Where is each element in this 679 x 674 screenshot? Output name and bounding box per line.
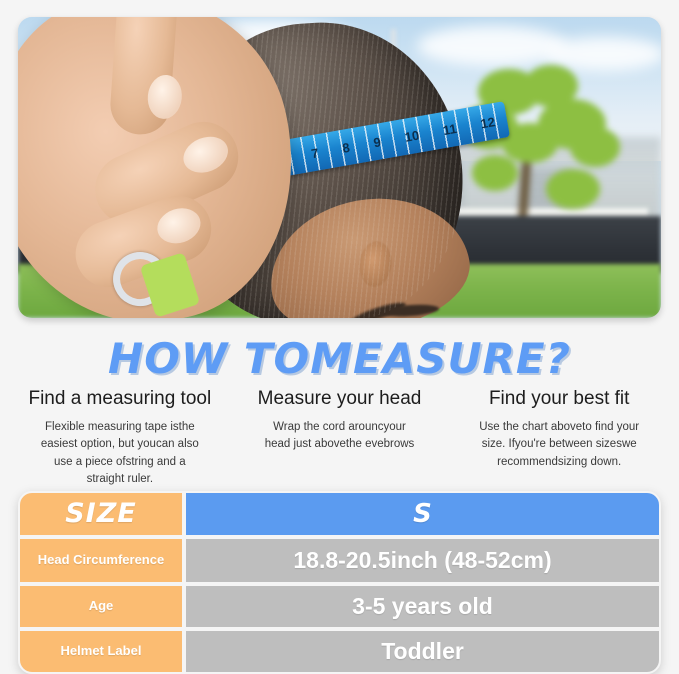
step-1-heading: Find a measuring tool [16, 388, 224, 410]
helmet-label-label: Helmet Label [18, 629, 184, 674]
step-3-heading: Find your best fit [455, 388, 663, 410]
helmet-label-value: Toddler [184, 629, 661, 674]
table-row: Age 3-5 years old [18, 584, 661, 629]
head-circumference-value: 18.8-20.5inch (48-52cm) [184, 537, 661, 584]
instruction-step-2: Measure your head Wrap the cord arouncyo… [230, 388, 450, 488]
tape-number: 12 [479, 114, 496, 131]
cloud [417, 26, 567, 66]
table-row: Helmet Label Toddler [18, 629, 661, 674]
forehead [259, 183, 479, 318]
table-row: SIZE S [18, 491, 661, 537]
step-2-heading: Measure your head [236, 388, 444, 410]
instruction-columns: Find a measuring tool Flexible measuring… [10, 388, 669, 488]
age-label: Age [18, 584, 184, 629]
age-value: 3-5 years old [184, 584, 661, 629]
size-header-label: SIZE [18, 491, 184, 537]
tape-number: 7 [310, 145, 320, 161]
size-header-value: S [184, 491, 661, 537]
instruction-step-1: Find a measuring tool Flexible measuring… [10, 388, 230, 488]
table-row: Head Circumference 18.8-20.5inch (48-52c… [18, 537, 661, 584]
tape-number: 9 [372, 134, 382, 150]
step-2-body: Wrap the cord arouncyour head just above… [265, 419, 415, 454]
step-1-body: Flexible measuring tape isthe easiest op… [36, 419, 204, 488]
head-circumference-label: Head Circumference [18, 537, 184, 584]
tape-number: 11 [442, 121, 458, 138]
tape-number: 8 [341, 140, 351, 156]
size-chart-table: SIZE S Head Circumference 18.8-20.5inch … [18, 491, 661, 674]
ear [358, 240, 395, 289]
photo-scene: 93 94 3 4 5 6 7 8 9 10 11 12 [18, 17, 661, 318]
instruction-step-3: Find your best fit Use the chart aboveto… [449, 388, 669, 488]
page-title: HOW TOMEASURE? [0, 334, 679, 383]
step-3-body: Use the chart aboveto find your size. If… [479, 419, 639, 471]
measurement-photo: 93 94 3 4 5 6 7 8 9 10 11 12 [18, 17, 661, 318]
tape-number: 10 [404, 127, 421, 144]
